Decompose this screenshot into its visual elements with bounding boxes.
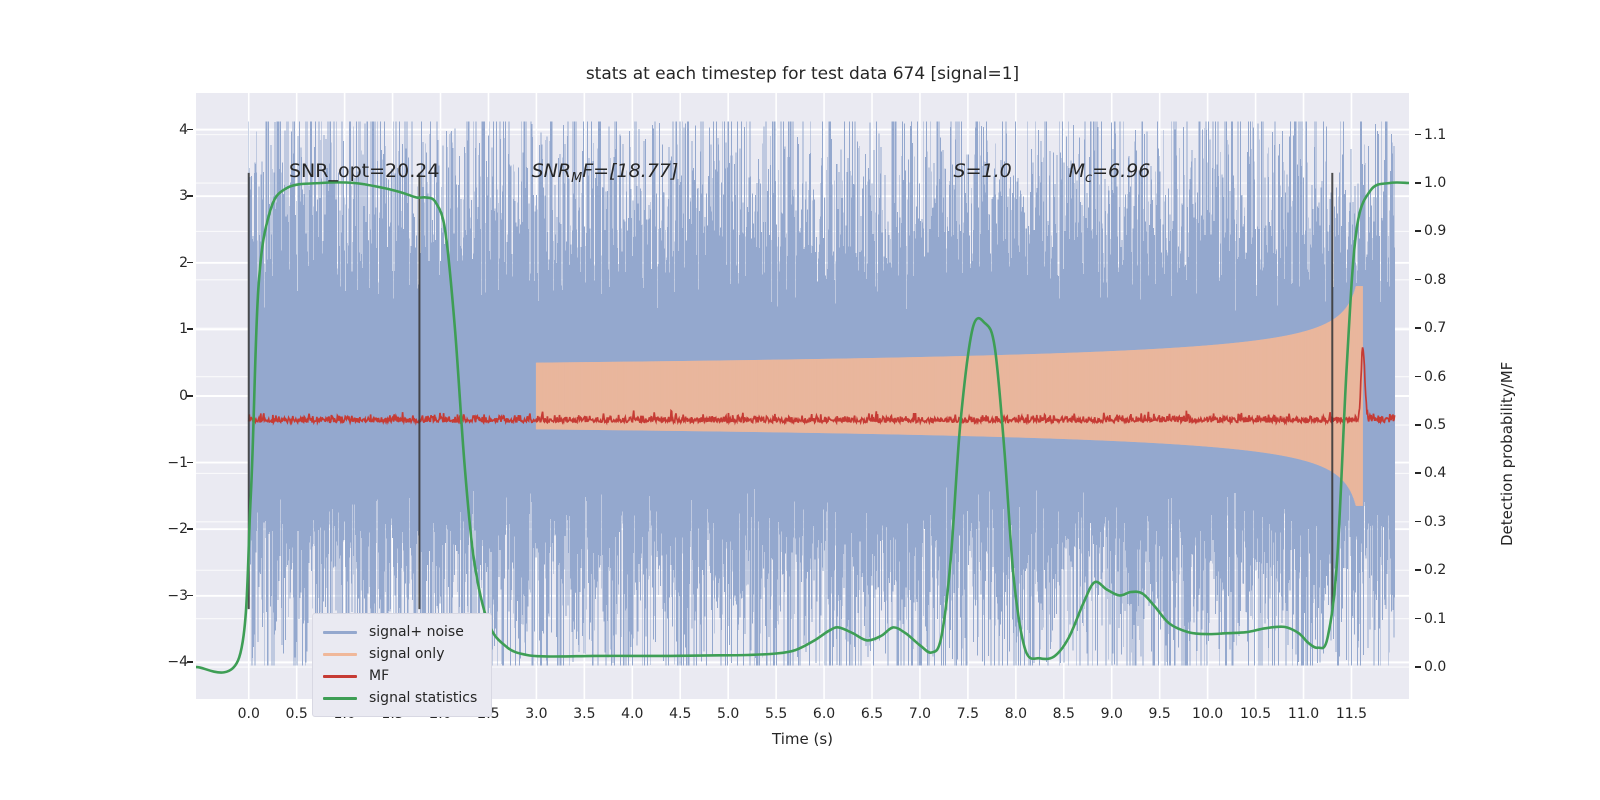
x-tick-label: 10.5	[1240, 706, 1271, 722]
y-tick-label-left: −4	[167, 654, 188, 670]
y-tick-label-right: 0.2	[1424, 562, 1446, 578]
y-tick-mark-right	[1415, 230, 1421, 232]
x-tick-label: 7.5	[957, 706, 979, 722]
legend-line-icon	[323, 653, 357, 656]
x-tick-label: 5.5	[765, 706, 787, 722]
legend-item-label: MF	[369, 668, 389, 684]
x-tick-label: 10.0	[1192, 706, 1223, 722]
y-tick-label-right: 1.0	[1424, 175, 1446, 191]
plot-area	[196, 93, 1409, 699]
y-tick-mark-right	[1415, 279, 1421, 281]
y-tick-mark-right	[1415, 134, 1421, 136]
x-tick-label: 6.0	[813, 706, 835, 722]
x-tick-label: 0.0	[238, 706, 260, 722]
x-tick-label: 0.5	[286, 706, 308, 722]
x-tick-label: 7.0	[909, 706, 931, 722]
x-tick-label: 4.0	[621, 706, 643, 722]
y-tick-mark-left	[187, 528, 193, 530]
legend-item[interactable]: signal+ noise	[323, 621, 477, 643]
legend-item-label: signal+ noise	[369, 624, 464, 640]
y-tick-label-right: 0.7	[1424, 320, 1446, 336]
y-tick-mark-right	[1415, 521, 1421, 523]
x-tick-label: 11.5	[1336, 706, 1367, 722]
legend-item[interactable]: signal only	[323, 643, 477, 665]
y-tick-label-right: 0.0	[1424, 659, 1446, 675]
y-tick-mark-left	[187, 661, 193, 663]
y-tick-mark-left	[187, 462, 193, 464]
y-tick-mark-right	[1415, 472, 1421, 474]
x-tick-label: 6.5	[861, 706, 883, 722]
y-tick-label-left: −1	[167, 455, 188, 471]
y-tick-label-left: −2	[167, 521, 188, 537]
annotation-mc-stat: Mc=6.96	[1069, 160, 1151, 186]
y-tick-label-right: 0.4	[1424, 465, 1446, 481]
y-tick-label-right: 0.3	[1424, 514, 1446, 530]
annotation-snr-mf: SNRMF=[18.77]	[532, 160, 679, 186]
y-tick-label-right: 1.1	[1424, 127, 1446, 143]
x-tick-label: 9.0	[1101, 706, 1123, 722]
legend-item-label: signal only	[369, 646, 444, 662]
y-tick-mark-right	[1415, 569, 1421, 571]
x-axis-label: Time (s)	[196, 730, 1409, 748]
legend-item[interactable]: MF	[323, 665, 477, 687]
x-tick-label: 9.5	[1149, 706, 1171, 722]
legend-item-label: signal statistics	[369, 690, 477, 706]
x-tick-label: 4.5	[669, 706, 691, 722]
y-tick-label-left: −3	[167, 588, 188, 604]
y-tick-mark-left	[187, 195, 193, 197]
y-tick-mark-left	[187, 129, 193, 131]
y-tick-label-right: 0.8	[1424, 272, 1446, 288]
y-tick-mark-left	[187, 395, 193, 397]
annotation-snr-opt: SNR_opt=20.24	[289, 160, 439, 182]
x-tick-label: 3.0	[525, 706, 547, 722]
y-tick-mark-right	[1415, 182, 1421, 184]
legend-line-icon	[323, 675, 357, 678]
y-tick-mark-left	[187, 595, 193, 597]
annotation-s-stat: S=1.0	[954, 160, 1012, 182]
y-tick-mark-right	[1415, 666, 1421, 668]
y-tick-mark-left	[187, 262, 193, 264]
y-tick-label-right: 0.9	[1424, 223, 1446, 239]
y-tick-label-right: 0.6	[1424, 369, 1446, 385]
legend-item[interactable]: signal statistics	[323, 687, 477, 709]
chart-legend[interactable]: signal+ noisesignal onlyMFsignal statist…	[312, 613, 492, 717]
y-tick-mark-left	[187, 328, 193, 330]
y-tick-label-right: 0.1	[1424, 611, 1446, 627]
x-tick-label: 5.0	[717, 706, 739, 722]
x-tick-label: 8.0	[1005, 706, 1027, 722]
y-tick-mark-right	[1415, 618, 1421, 620]
y-tick-mark-right	[1415, 424, 1421, 426]
x-tick-label: 3.5	[573, 706, 595, 722]
y-axis-label-right: Detection probability/MF	[1498, 362, 1516, 546]
x-tick-label: 11.0	[1288, 706, 1319, 722]
y-tick-label-right: 0.5	[1424, 417, 1446, 433]
y-tick-mark-right	[1415, 376, 1421, 378]
y-tick-mark-right	[1415, 327, 1421, 329]
data-layer	[196, 93, 1409, 699]
legend-line-icon	[323, 697, 357, 700]
page-title: stats at each timestep for test data 674…	[196, 64, 1409, 84]
x-tick-label: 8.5	[1053, 706, 1075, 722]
figure-canvas: stats at each timestep for test data 674…	[0, 0, 1600, 800]
legend-line-icon	[323, 631, 357, 634]
